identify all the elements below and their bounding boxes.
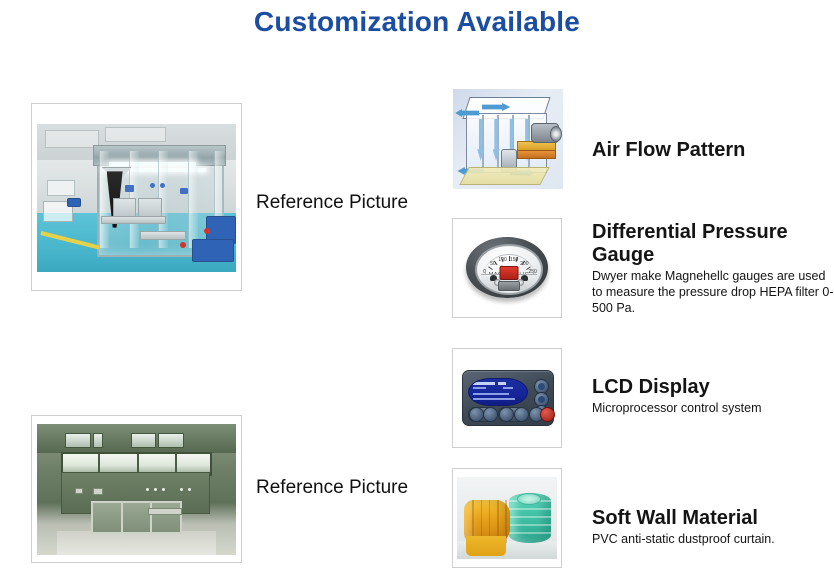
right-arrow-button[interactable]: [483, 407, 498, 422]
feature-title: LCD Display: [592, 376, 834, 399]
feature-description: Dwyer make Magnehellc gauges are used to…: [592, 268, 834, 316]
pvc-curtain: [188, 151, 198, 249]
feature-text-lcd-display: LCD Display Microprocessor control syste…: [592, 376, 834, 416]
lcd-text-row: [498, 382, 506, 385]
air-flow-pattern-thumbnail-frame: [452, 88, 564, 190]
magnehelic-differential-pressure-gauge-photo: 0 50 100 150 200 250 MAGNEHELIC: [457, 227, 557, 309]
power-button[interactable]: [540, 407, 555, 422]
cabinet-door: [150, 501, 182, 534]
roll-ring: [509, 516, 551, 518]
wall-switch: [75, 488, 83, 494]
blue-bin: [67, 198, 81, 207]
gauge-tick-label: 50: [490, 261, 496, 267]
down-arrow-button[interactable]: [514, 407, 529, 422]
page-title: Customization Available: [0, 6, 834, 38]
lcd-screen: [468, 378, 528, 406]
lcd-text-row: [473, 382, 495, 385]
floor-marking-stripe: [40, 231, 99, 249]
reference-picture-caption-2: Reference Picture: [256, 477, 408, 499]
red-valve: [204, 228, 210, 234]
feature-text-differential-pressure-gauge: Differential Pressure Gauge Dwyer make M…: [592, 221, 834, 316]
control-panel-body: [462, 370, 554, 426]
gauge-tick-label: 100: [498, 257, 506, 263]
enter-icon: [538, 396, 545, 403]
blue-bin: [192, 239, 234, 262]
pre-filter: [517, 150, 556, 159]
wall-sign: [180, 188, 188, 194]
ceiling-light: [109, 162, 197, 166]
floor: [57, 531, 216, 555]
cleanroom-sampling-booth-photo: [37, 424, 236, 555]
feature-row-lcd-display: LCD Display Microprocessor control syste…: [452, 348, 834, 458]
hood-rib: [98, 454, 100, 475]
bench-shelf: [101, 216, 167, 224]
lcd-control-panel-photo: [457, 357, 557, 439]
hood-rib: [137, 454, 139, 475]
roll-ring: [509, 524, 551, 526]
feature-title: Soft Wall Material: [592, 507, 834, 530]
pvc-curtain: [99, 151, 109, 249]
ceiling-panel: [105, 127, 167, 142]
reference-picture-frame-2: [31, 415, 242, 563]
gauge-port-stem: [498, 281, 520, 291]
gauge-red-label: [499, 266, 518, 280]
upper-window: [65, 433, 91, 448]
feature-row-air-flow-pattern: Air Flow Pattern: [452, 88, 834, 192]
reference-picture-frame-1: [31, 103, 242, 291]
lcd-text-row: [473, 393, 509, 395]
upper-window: [158, 433, 184, 448]
reference-picture-caption-1: Reference Picture: [256, 192, 408, 214]
lcd-text-row: [473, 387, 486, 389]
wall-panel: [47, 180, 75, 195]
cabinet-door: [91, 501, 123, 534]
roll-ring: [509, 508, 551, 510]
upper-window: [131, 433, 157, 448]
control-strip: [148, 508, 182, 515]
lcd-text-row: [473, 398, 516, 400]
wall-switch: [93, 488, 103, 495]
cabinet-door: [121, 501, 153, 534]
feature-description: PVC anti-static dustproof curtain.: [592, 531, 834, 547]
feature-text-air-flow-pattern: Air Flow Pattern: [592, 139, 834, 162]
feature-text-soft-wall-material: Soft Wall Material PVC anti-static dustp…: [592, 507, 834, 547]
blower-fan: [531, 123, 559, 143]
ceiling-panel: [45, 130, 99, 148]
roll-ring: [509, 532, 551, 534]
pvc-strip-curtain-rolls-photo: [457, 477, 557, 559]
lcd-text-row: [503, 387, 513, 389]
feature-row-soft-wall-material: Soft Wall Material PVC anti-static dustp…: [452, 468, 834, 578]
bench-shelf: [140, 231, 186, 240]
air-flow-pattern-diagram: [453, 89, 563, 189]
soft-wall-material-thumbnail-frame: [452, 468, 562, 568]
lcd-display-thumbnail-frame: [452, 348, 562, 448]
cleanroom-softwall-booth-photo: [37, 124, 236, 272]
hood-rib: [175, 454, 177, 475]
amber-curtain-tail: [466, 536, 506, 556]
wall-sign: [125, 185, 134, 192]
feature-row-differential-pressure-gauge: 0 50 100 150 200 250 MAGNEHELIC: [452, 218, 834, 328]
pressure-gauge-thumbnail-frame: 0 50 100 150 200 250 MAGNEHELIC: [452, 218, 562, 318]
menu-icon: [538, 383, 545, 390]
upper-window: [93, 433, 103, 448]
feature-title: Air Flow Pattern: [592, 139, 834, 162]
gauge-tick-label: 200: [520, 261, 528, 267]
booth-floor: [459, 167, 550, 185]
gauge-tick-label: 150: [510, 257, 518, 263]
gauge-dial-face: 0 50 100 150 200 250 MAGNEHELIC: [475, 244, 543, 295]
feature-title: Differential Pressure Gauge: [592, 221, 834, 267]
gauge-housing: 0 50 100 150 200 250 MAGNEHELIC: [466, 237, 548, 298]
feature-description: Microprocessor control system: [592, 400, 834, 416]
button-row: [468, 407, 547, 421]
